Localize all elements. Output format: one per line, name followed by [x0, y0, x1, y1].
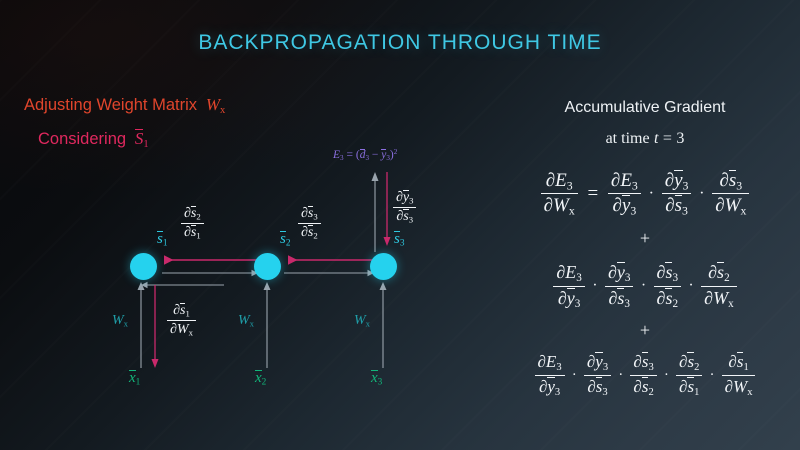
considering-text: Considering	[38, 130, 126, 148]
state-label-s1: s1	[157, 231, 168, 249]
eq2-dot-1: ·	[589, 277, 600, 295]
eq3-dot-2: ·	[615, 367, 626, 384]
eq1-dot-1: ·	[646, 185, 657, 203]
derivative-label-ds1-dWx: ∂s1 ∂Wx	[167, 303, 196, 338]
eq1-dot-2: ·	[696, 185, 707, 203]
eq1-lhs-fraction: ∂E3 ∂Wx	[541, 170, 578, 218]
weight-label-Wx-3: Wx	[354, 313, 370, 329]
eq2-dot-3: ·	[686, 277, 697, 295]
eq2-term-2: ∂y3 ∂s3	[605, 262, 633, 310]
eq2-term-1: ∂E3 ∂y3	[553, 262, 584, 310]
time-variable: t	[654, 130, 658, 147]
eq3-term-3: ∂s3 ∂s2	[630, 352, 656, 399]
weight-label-Wx-2: Wx	[238, 313, 254, 329]
gradient-arrow-s1-to-Wx-head	[152, 359, 159, 368]
at-time-heading: at time t = 3	[490, 130, 800, 148]
equals-sign: =	[663, 130, 672, 147]
error-gradient-arrow-head	[384, 237, 391, 246]
derivative-label-ds2-ds1: ∂s2 ∂s1	[181, 206, 204, 241]
error-formula-E3: E3 = (d3 − y3)2	[333, 148, 397, 162]
state-node-s3[interactable]	[370, 253, 397, 280]
eq1-term-1: ∂E3 ∂y3	[608, 170, 641, 218]
output-arrow-s3-to-error-head	[372, 172, 379, 181]
equation-plus-1: +	[490, 228, 800, 249]
state-node-s2[interactable]	[254, 253, 281, 280]
input-label-x2: x2	[255, 370, 266, 388]
slide-canvas: BACKPROPAGATION THROUGH TIME Adjusting W…	[0, 0, 800, 450]
eq2-dot-2: ·	[638, 277, 649, 295]
eq3-term-5: ∂s1 ∂Wx	[722, 352, 756, 399]
eq3-term-1: ∂E3 ∂y3	[535, 352, 565, 399]
eq3-term-4: ∂s2 ∂s1	[676, 352, 702, 399]
symbol-Wx: Wx	[202, 95, 226, 114]
eq1-term-2: ∂y3 ∂s3	[662, 170, 692, 218]
at-time-prefix: at time	[606, 130, 650, 147]
input-label-x1: x1	[129, 370, 140, 388]
accumulative-gradient-heading: Accumulative Gradient	[490, 99, 800, 117]
eq2-term-4: ∂s2 ∂Wx	[701, 262, 736, 310]
eq1-term-3: ∂s3 ∂Wx	[712, 170, 749, 218]
derivative-label-dy3-ds3: ∂y3 ∂s3	[393, 190, 416, 225]
input-arrow-x2-head	[264, 282, 271, 290]
eq1-equals: =	[582, 183, 603, 205]
input-arrow-x3-head	[380, 282, 387, 290]
state-node-s1[interactable]	[130, 253, 157, 280]
page-title: BACKPROPAGATION THROUGH TIME	[0, 31, 800, 55]
equation-plus-2: +	[490, 320, 800, 341]
adjusting-weight-matrix-heading: Adjusting Weight Matrix Wx	[24, 95, 225, 116]
equation-line-3: ∂E3 ∂y3 · ∂y3 ∂s3 · ∂s3 ∂s2 · ∂s2 ∂s1 · …	[490, 352, 800, 399]
eq3-dot-1: ·	[569, 367, 580, 384]
eq2-term-3: ∂s3 ∂s2	[654, 262, 682, 310]
equation-line-2: ∂E3 ∂y3 · ∂y3 ∂s3 · ∂s3 ∂s2 · ∂s2 ∂Wx	[490, 262, 800, 310]
derivative-label-ds3-ds2: ∂s3 ∂s2	[298, 206, 321, 241]
bptt-unrolled-network-diagram: s1 s2 s3 ∂s2 ∂s1 ∂s3 ∂s2 ∂y3 ∂s3	[0, 0, 470, 450]
considering-heading: Considering S1	[38, 129, 149, 150]
state-label-s3: s3	[394, 231, 405, 249]
equation-line-1: ∂E3 ∂Wx = ∂E3 ∂y3 · ∂y3 ∂s3 · ∂s3 ∂Wx	[490, 170, 800, 218]
weight-label-Wx-1: Wx	[112, 313, 128, 329]
eq3-dot-4: ·	[707, 367, 718, 384]
symbol-S1-bar: S1	[131, 129, 149, 148]
adjusting-weight-matrix-text: Adjusting Weight Matrix	[24, 96, 197, 114]
eq3-dot-3: ·	[661, 367, 672, 384]
time-value: 3	[676, 130, 684, 147]
eq3-term-2: ∂y3 ∂s3	[584, 352, 611, 399]
input-label-x3: x3	[371, 370, 382, 388]
state-label-s2: s2	[280, 231, 291, 249]
input-arrow-x1-head	[138, 282, 145, 290]
